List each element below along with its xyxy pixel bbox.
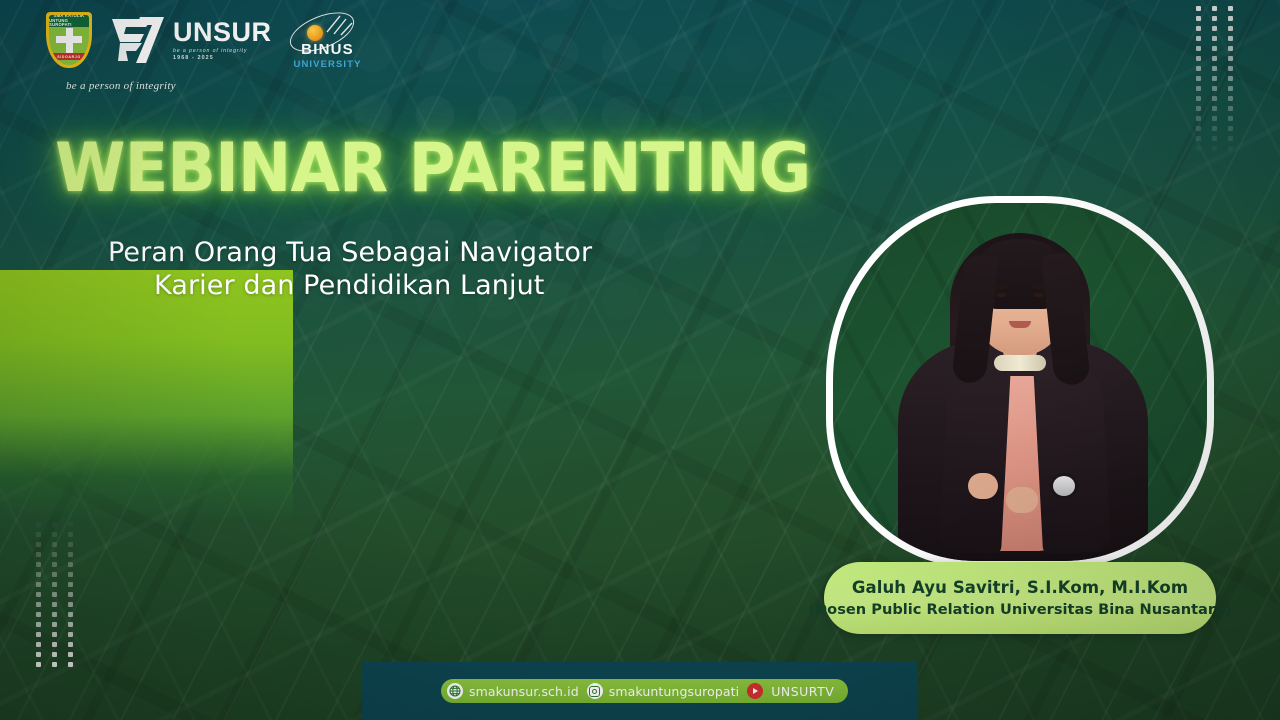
globe-icon — [447, 683, 463, 699]
subtitle-line-1: Peran Orang Tua Sebagai Navigator — [108, 237, 592, 268]
binus-comet-tail-icon — [326, 14, 360, 36]
unsur-wordmark: UNSUR — [173, 19, 272, 46]
webinar-poster: SMA KATOLIK UNTUNG SUROPATI SIDOARJO — [0, 0, 1280, 720]
binus-planet-icon — [307, 25, 323, 41]
page-title: WEBINAR PARENTING — [55, 135, 810, 203]
footer-link-youtube[interactable]: UNSURTV — [747, 683, 834, 699]
footer-link-website[interactable]: smakunsur.sch.id — [447, 683, 579, 699]
footer-link-website-label: smakunsur.sch.id — [469, 684, 579, 699]
dot-grid-top-right — [1196, 6, 1242, 156]
speaker-name: Galuh Ayu Savitri, S.I.Kom, M.I.Kom — [852, 578, 1188, 597]
subtitle-line-2: Karier dan Pendidikan Lanjut — [108, 269, 592, 302]
unsur-years: 1968 - 2025 — [173, 56, 272, 61]
crest-ribbon-text: SIDOARJO — [51, 53, 87, 60]
youtube-icon — [747, 683, 763, 699]
instagram-icon — [587, 683, 603, 699]
speaker-photo-frame — [826, 196, 1214, 568]
speaker-name-badge: Galuh Ayu Savitri, S.I.Kom, M.I.Kom (Dos… — [824, 562, 1216, 634]
speaker-photo — [833, 203, 1207, 561]
logo-row: SMA KATOLIK UNTUNG SUROPATI SIDOARJO — [46, 12, 370, 68]
page-subtitle: Peran Orang Tua Sebagai Navigator Karier… — [108, 236, 592, 302]
header-tagline: be a person of integrity — [66, 80, 176, 92]
unsur-57-mark-icon — [106, 13, 166, 67]
unsur-logo: UNSUR be a person of integrity 1968 - 20… — [106, 13, 272, 67]
sma-katolik-crest-icon: SMA KATOLIK UNTUNG SUROPATI SIDOARJO — [46, 12, 92, 68]
dot-grid-bottom-left — [36, 522, 82, 672]
binus-subwordmark: UNIVERSITY — [286, 59, 370, 70]
footer-social-pill: smakunsur.sch.id smakuntungsuropati UNSU… — [441, 679, 848, 703]
footer-link-instagram[interactable]: smakuntungsuropati — [587, 683, 739, 699]
unsur-tagline: be a person of integrity — [173, 49, 272, 54]
speaker-affiliation: (Dosen Public Relation Universitas Bina … — [808, 601, 1231, 618]
crest-band-line2: UNTUNG SUROPATI — [49, 19, 89, 28]
binus-logo: BINUS UNIVERSITY — [286, 12, 370, 68]
binus-wordmark: BINUS — [286, 41, 370, 58]
green-accent-block — [0, 270, 293, 522]
footer-link-youtube-label: UNSURTV — [771, 684, 834, 699]
footer-link-instagram-label: smakuntungsuropati — [609, 684, 739, 699]
